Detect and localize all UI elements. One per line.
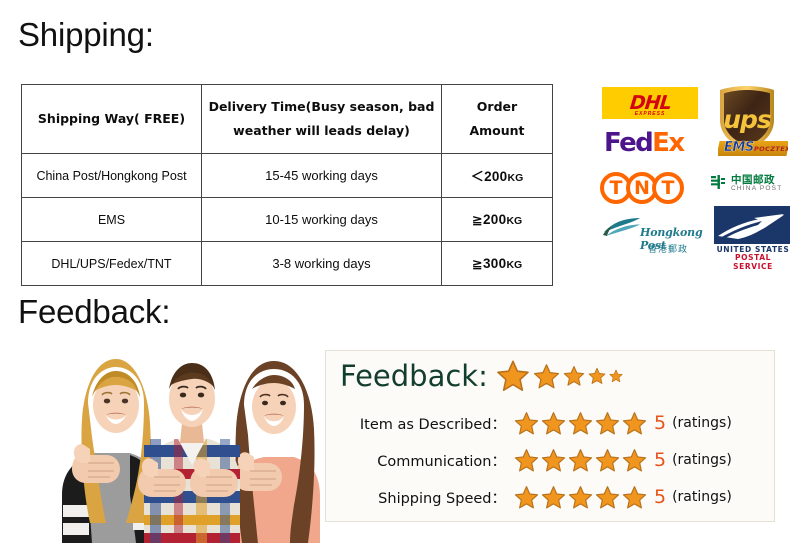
dhl-sublabel: EXPRESS — [602, 111, 698, 117]
amount-unit: KG — [506, 215, 522, 227]
star-icon — [609, 369, 623, 383]
star-icon — [588, 367, 606, 385]
star-icon — [595, 411, 620, 436]
star-icon — [568, 485, 593, 510]
usps-logo-icon: UNITED STATES POSTAL SERVICE — [714, 206, 790, 262]
table-header-shipping-way: Shipping Way( FREE) — [22, 85, 202, 154]
star-icon — [514, 448, 539, 473]
feedback-panel-heading: Feedback: — [340, 359, 626, 393]
cell-delivery-time: 10-15 working days — [202, 198, 442, 242]
star-icon — [595, 448, 620, 473]
star-icon — [595, 411, 620, 436]
cell-shipping-way: EMS — [22, 198, 202, 242]
star-icon — [496, 359, 530, 393]
feedback-row-ratings: (ratings) — [672, 489, 732, 505]
star-icon — [568, 411, 593, 436]
svg-text:ups: ups — [723, 105, 771, 134]
star-icon — [622, 485, 647, 510]
star-icon — [496, 359, 530, 393]
star-icon — [541, 411, 566, 436]
tnt-logo-icon: T N T — [600, 170, 704, 206]
fedex-logo-icon: FedEx — [604, 128, 708, 158]
usps-line-2: POSTAL SERVICE — [716, 253, 790, 271]
header-line: weather will leads delay) — [233, 123, 410, 138]
cell-order-amount: ≧200KG — [442, 198, 553, 242]
star-icon — [622, 411, 647, 436]
table-header-delivery-time: Delivery Time(Busy season, bad weather w… — [202, 85, 442, 154]
star-icon — [609, 369, 623, 383]
ems-logo-icon: EMS POCZTEX — [718, 138, 788, 160]
feedback-row-stars — [514, 485, 649, 510]
feedback-row-stars — [514, 411, 649, 436]
amount-number: 200 — [484, 169, 507, 184]
feedback-row-score: 5 — [654, 451, 666, 470]
header-line: Shipping Way( FREE) — [38, 111, 185, 126]
cell-order-amount: ≧300KG — [442, 242, 553, 286]
tnt-letter: T — [662, 179, 675, 198]
feedback-row: Item as Described： 5 (ratings) — [326, 408, 776, 438]
dhl-logo-icon: DHL EXPRESS — [602, 87, 698, 119]
amount-number: 300 — [483, 256, 506, 271]
shipping-section-title: Shipping: — [18, 16, 154, 54]
amount-operator: ≧ — [472, 212, 483, 227]
feedback-section-title: Feedback: — [18, 293, 170, 331]
feedback-heading-stars — [496, 359, 626, 393]
star-icon — [541, 448, 566, 473]
tnt-letter: N — [634, 179, 650, 198]
star-icon — [622, 448, 647, 473]
cell-shipping-way: China Post/Hongkong Post — [22, 154, 202, 198]
table-header-order-amount: Order Amount — [442, 85, 553, 154]
feedback-row: Communication： 5 (ratings) — [326, 445, 776, 475]
label-text: Shipping Speed — [378, 491, 491, 507]
label-colon: ： — [492, 417, 507, 433]
feedback-row-label: Communication： — [326, 450, 508, 471]
ems-sublabel: POCZTEX — [754, 145, 788, 153]
star-icon — [563, 365, 585, 387]
amount-unit: KG — [508, 172, 524, 184]
table-header-row: Shipping Way( FREE) Delivery Time(Busy s… — [22, 85, 553, 154]
feedback-row-score: 5 — [654, 488, 666, 507]
cell-delivery-time: 3-8 working days — [202, 242, 442, 286]
star-icon — [622, 485, 647, 510]
label-text: Item as Described — [360, 417, 492, 433]
hongkong-post-bird-icon — [602, 212, 642, 240]
header-line: Delivery Time(Busy season, bad — [209, 99, 435, 114]
header-line: Order Amount — [469, 99, 524, 138]
table-row: China Post/Hongkong Post 15-45 working d… — [22, 154, 553, 198]
star-icon — [514, 485, 539, 510]
dhl-wordmark: DHL — [629, 94, 672, 113]
table-row: DHL/UPS/Fedex/TNT 3-8 working days ≧300K… — [22, 242, 553, 286]
china-post-emblem-icon — [708, 173, 728, 193]
china-post-en: CHINA POST — [731, 185, 782, 192]
label-colon: ： — [492, 454, 507, 470]
amount-operator: ＜ — [471, 169, 484, 184]
hongkong-post-zh: 香港郵政 — [648, 242, 688, 255]
feedback-row: Shipping Speed： 5 (ratings) — [326, 482, 776, 512]
feedback-row-label: Shipping Speed： — [326, 487, 508, 508]
label-text: Communication — [377, 454, 491, 470]
feedback-row-ratings: (ratings) — [672, 452, 732, 468]
cell-delivery-time: 15-45 working days — [202, 154, 442, 198]
star-icon — [563, 365, 585, 387]
fedex-fed: Fed — [604, 130, 652, 156]
star-icon — [568, 411, 593, 436]
hongkong-post-logo-icon: Hongkong Post 香港郵政 — [602, 212, 706, 260]
amount-operator: ≧ — [472, 256, 483, 271]
star-icon — [533, 363, 560, 390]
star-icon — [595, 485, 620, 510]
feedback-heading-text: Feedback: — [340, 362, 488, 391]
amount-unit: KG — [506, 259, 522, 271]
fedex-ex: Ex — [652, 130, 683, 156]
feedback-row-score: 5 — [654, 414, 666, 433]
shipping-table: Shipping Way( FREE) Delivery Time(Busy s… — [21, 84, 553, 286]
star-icon — [533, 363, 560, 390]
star-icon — [588, 367, 606, 385]
table-row: EMS 10-15 working days ≧200KG — [22, 198, 553, 242]
feedback-panel: Feedback: Item as Described： 5 (ratings)… — [325, 350, 775, 522]
ems-wordmark: EMS — [724, 140, 754, 155]
usps-eagle-mark — [714, 206, 790, 244]
feedback-row-ratings: (ratings) — [672, 415, 732, 431]
star-icon — [541, 485, 566, 510]
cell-shipping-way: DHL/UPS/Fedex/TNT — [22, 242, 202, 286]
china-post-logo-icon: 中国邮政 CHINA POST — [708, 172, 790, 200]
star-icon — [541, 448, 566, 473]
feedback-row-stars — [514, 448, 649, 473]
star-icon — [568, 448, 593, 473]
star-icon — [541, 485, 566, 510]
carrier-logos: DHL EXPRESS — [596, 84, 792, 270]
star-icon — [514, 448, 539, 473]
star-icon — [568, 448, 593, 473]
star-icon — [514, 411, 539, 436]
star-icon — [595, 485, 620, 510]
star-icon — [568, 485, 593, 510]
star-icon — [595, 448, 620, 473]
star-icon — [514, 485, 539, 510]
star-icon — [622, 411, 647, 436]
shipping-feedback-page: Shipping: Shipping Way( FREE) Delivery T… — [0, 0, 800, 546]
feedback-row-label: Item as Described： — [326, 413, 508, 434]
amount-number: 200 — [483, 212, 506, 227]
label-colon: ： — [492, 491, 507, 507]
star-icon — [514, 411, 539, 436]
tnt-letter: T — [610, 179, 623, 198]
tnt-letter-ring: T — [652, 172, 684, 204]
star-icon — [541, 411, 566, 436]
usps-eagle-icon — [714, 206, 790, 244]
cell-order-amount: ＜200KG — [442, 154, 553, 198]
thumbs-up-people-photo — [32, 345, 322, 543]
star-icon — [622, 448, 647, 473]
